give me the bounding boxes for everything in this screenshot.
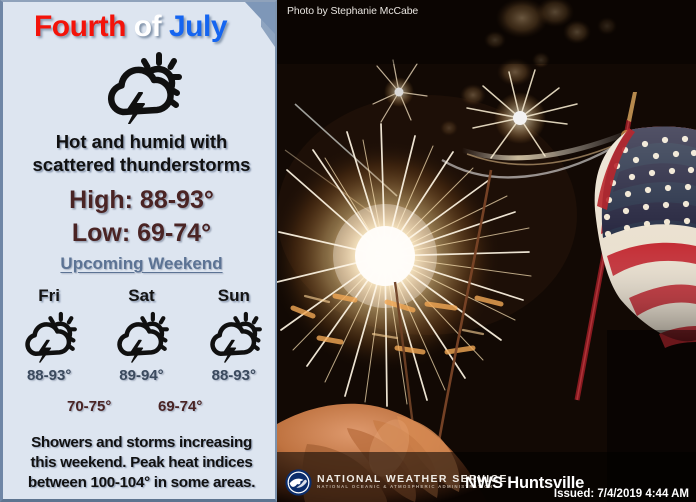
condition-text: Hot and humid with scattered thunderstor… xyxy=(3,130,277,176)
weekend-forecast-row: Fri xyxy=(3,286,277,384)
noaa-seal-icon xyxy=(285,469,312,496)
summary-line-2: this weekend. Peak heat indices xyxy=(15,453,268,473)
summary-text: Showers and storms increasing this weeke… xyxy=(3,433,277,494)
high-temp: High: 88-93° xyxy=(3,184,277,217)
high-low-block: High: 88-93° Low: 69-74° xyxy=(3,184,277,250)
day-name: Fri xyxy=(3,286,95,306)
weekend-low-temps-row: 70-75° 69-74° xyxy=(3,398,277,418)
summary-line-3: between 100-104° in some areas. xyxy=(15,473,268,493)
main-weather-icon xyxy=(3,52,277,124)
holiday-photo: Photo by Stephanie McCabe xyxy=(277,0,696,502)
summary-line-1: Showers and storms increasing xyxy=(15,433,268,453)
condition-line-2: scattered thunderstorms xyxy=(3,153,277,176)
weather-graphic: Fourth of July xyxy=(0,0,696,502)
title-word-of: of xyxy=(134,10,161,43)
title-word-fourth: Fourth xyxy=(34,10,126,43)
thunderstorm-sun-cloud-icon xyxy=(95,308,187,366)
nws-footer-bar: NATIONAL WEATHER SERVICE NATIONAL OCEANI… xyxy=(277,455,696,502)
day-name: Sat xyxy=(95,286,187,306)
day-column-sat: Sat xyxy=(95,286,187,384)
upcoming-weekend-link[interactable]: Upcoming Weekend xyxy=(3,254,277,274)
day-low-temp: 70-75° xyxy=(67,398,111,415)
thunderstorm-sun-cloud-icon xyxy=(3,308,95,366)
issued-timestamp: Issued: 7/4/2019 4:44 AM xyxy=(554,488,689,500)
day-high-temp: 88-93° xyxy=(188,367,277,384)
day-high-temp: 89-94° xyxy=(95,367,187,384)
low-temp: Low: 69-74° xyxy=(3,217,277,250)
forecast-panel: Fourth of July xyxy=(0,0,277,502)
page-title: Fourth of July xyxy=(3,10,258,44)
thunderstorm-sun-cloud-icon xyxy=(188,308,277,366)
day-low-temp: 69-74° xyxy=(158,398,202,415)
day-column-sun: Sun xyxy=(188,286,277,384)
condition-line-1: Hot and humid with xyxy=(3,130,277,153)
title-word-july: July xyxy=(169,10,227,43)
day-name: Sun xyxy=(188,286,277,306)
day-high-temp: 88-93° xyxy=(3,367,95,384)
photo-credit: Photo by Stephanie McCabe xyxy=(287,5,418,17)
day-column-fri: Fri xyxy=(3,286,95,384)
